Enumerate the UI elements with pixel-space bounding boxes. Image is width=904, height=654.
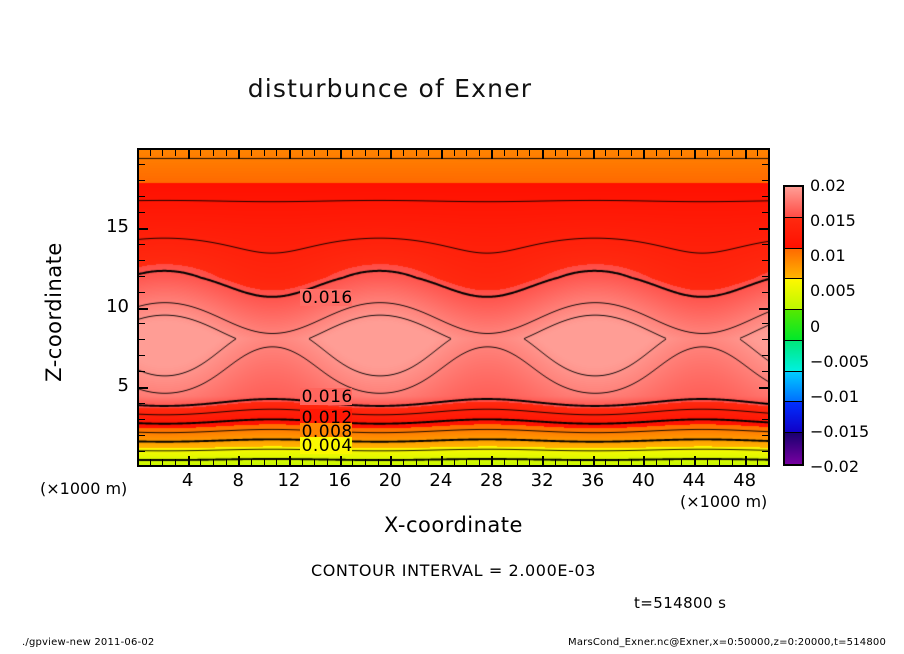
- y-tick-right: [762, 180, 770, 181]
- y-tick-left: [137, 276, 145, 277]
- x-tick-bottom: [416, 459, 417, 467]
- y-tick-right: [762, 403, 770, 404]
- y-tick-left: [137, 339, 145, 340]
- x-tick-bottom: [428, 459, 429, 467]
- y-tick-right: [762, 244, 770, 245]
- x-tick-top: [681, 148, 682, 156]
- x-tick-bottom: [681, 459, 682, 467]
- y-tick-right: [762, 339, 770, 340]
- x-tick-label: 16: [318, 470, 362, 491]
- footer-source-text: MarsCond_Exner.nc@Exner,x=0:50000,z=0:20…: [568, 637, 886, 648]
- y-tick-left: [137, 403, 145, 404]
- y-tick-label: 15: [93, 216, 129, 237]
- y-tick-left: [137, 435, 145, 436]
- colorbar-band: [785, 218, 802, 249]
- x-tick-top: [757, 148, 758, 156]
- x-tick-bottom: [340, 456, 342, 467]
- y-tick-label: 10: [93, 296, 129, 317]
- x-tick-bottom: [529, 459, 530, 467]
- x-tick-top: [466, 148, 467, 156]
- x-tick-top: [390, 148, 392, 159]
- x-tick-top: [618, 148, 619, 156]
- y-tick-right: [762, 435, 770, 436]
- x-axis-unit-label: (×1000 m): [680, 492, 767, 511]
- x-tick-bottom: [226, 459, 227, 467]
- x-tick-bottom: [200, 459, 201, 467]
- contour-interval-note: CONTOUR INTERVAL = 2.000E-03: [137, 561, 770, 580]
- colorbar-band: [785, 187, 802, 218]
- colorbar-tick-label: 0.015: [810, 211, 856, 230]
- colorbar-band: [785, 372, 802, 403]
- contour-label: 0.004: [302, 436, 353, 456]
- x-tick-bottom: [707, 459, 708, 467]
- x-tick-top: [707, 148, 708, 156]
- x-tick-bottom: [365, 459, 366, 467]
- x-tick-bottom: [732, 459, 733, 467]
- x-tick-bottom: [593, 456, 595, 467]
- x-tick-top: [378, 148, 379, 156]
- colorbar-band: [785, 402, 802, 433]
- x-tick-top: [605, 148, 606, 156]
- x-tick-bottom: [745, 456, 747, 467]
- x-tick-bottom: [491, 456, 493, 467]
- x-tick-top: [162, 148, 163, 156]
- y-tick-right: [759, 228, 770, 230]
- colorbar-tick-label: 0.01: [810, 246, 846, 265]
- colorbar-tick-label: −0.02: [810, 457, 859, 476]
- colorbar-band: [785, 310, 802, 341]
- y-tick-right: [759, 387, 770, 389]
- x-tick-top: [200, 148, 201, 156]
- contour-field-canvas: [139, 150, 770, 467]
- x-tick-top: [631, 148, 632, 156]
- x-tick-bottom: [504, 459, 505, 467]
- x-tick-bottom: [479, 459, 480, 467]
- x-tick-top: [504, 148, 505, 156]
- x-tick-top: [593, 148, 595, 159]
- colorbar-band: [785, 433, 802, 464]
- x-tick-bottom: [352, 459, 353, 467]
- x-tick-top: [567, 148, 568, 156]
- x-tick-top: [314, 148, 315, 156]
- x-tick-bottom: [517, 459, 518, 467]
- page-title: disturbunce of Exner: [0, 74, 780, 103]
- x-tick-top: [580, 148, 581, 156]
- x-tick-top: [327, 148, 328, 156]
- x-tick-top: [694, 148, 696, 159]
- x-tick-top: [479, 148, 480, 156]
- x-tick-top: [213, 148, 214, 156]
- colorbar: [783, 185, 804, 466]
- x-tick-bottom: [403, 459, 404, 467]
- x-tick-bottom: [378, 459, 379, 467]
- y-tick-left: [137, 355, 145, 356]
- x-tick-bottom: [466, 459, 467, 467]
- x-tick-bottom: [289, 456, 291, 467]
- x-tick-top: [555, 148, 556, 156]
- x-tick-bottom: [162, 459, 163, 467]
- x-tick-top: [226, 148, 227, 156]
- x-tick-bottom: [542, 456, 544, 467]
- x-axis-label: X-coordinate: [137, 513, 770, 537]
- y-tick-right: [762, 323, 770, 324]
- x-tick-bottom: [276, 459, 277, 467]
- colorbar-tick-label: 0.02: [810, 176, 846, 195]
- x-tick-bottom: [694, 456, 696, 467]
- x-tick-bottom: [390, 456, 392, 467]
- colorbar-tick-label: 0.005: [810, 281, 856, 300]
- x-tick-label: 24: [419, 470, 463, 491]
- y-tick-left: [137, 212, 145, 213]
- x-tick-bottom: [327, 459, 328, 467]
- x-tick-top: [428, 148, 429, 156]
- x-tick-label: 48: [723, 470, 767, 491]
- x-tick-top: [352, 148, 353, 156]
- x-tick-label: 12: [267, 470, 311, 491]
- contour-label: 0.016: [302, 387, 353, 407]
- y-tick-right: [762, 196, 770, 197]
- x-tick-label: 32: [520, 470, 564, 491]
- x-tick-top: [416, 148, 417, 156]
- x-tick-bottom: [669, 459, 670, 467]
- y-tick-left: [137, 371, 145, 372]
- x-tick-top: [656, 148, 657, 156]
- x-tick-bottom: [150, 459, 151, 467]
- y-tick-right: [762, 419, 770, 420]
- x-tick-top: [719, 148, 720, 156]
- x-tick-bottom: [251, 459, 252, 467]
- y-tick-left: [137, 228, 148, 230]
- y-tick-left: [137, 292, 145, 293]
- x-tick-bottom: [213, 459, 214, 467]
- y-tick-left: [137, 244, 145, 245]
- y-tick-left: [137, 323, 145, 324]
- colorbar-tick-label: −0.015: [810, 422, 869, 441]
- y-tick-left: [137, 419, 145, 420]
- x-tick-top: [302, 148, 303, 156]
- x-tick-top: [175, 148, 176, 156]
- x-tick-bottom: [631, 459, 632, 467]
- x-tick-bottom: [656, 459, 657, 467]
- x-tick-top: [517, 148, 518, 156]
- x-tick-bottom: [757, 459, 758, 467]
- x-tick-label: 8: [216, 470, 260, 491]
- contour-plot-area: [137, 148, 770, 467]
- x-tick-top: [150, 148, 151, 156]
- x-tick-label: 28: [469, 470, 513, 491]
- time-stamp-note: t=514800 s: [634, 594, 726, 612]
- x-tick-top: [669, 148, 670, 156]
- x-tick-top: [340, 148, 342, 159]
- x-tick-bottom: [454, 459, 455, 467]
- y-tick-left: [137, 196, 145, 197]
- y-tick-left: [137, 180, 145, 181]
- y-tick-left: [137, 451, 145, 452]
- x-tick-bottom: [555, 459, 556, 467]
- y-tick-right: [762, 212, 770, 213]
- x-tick-top: [276, 148, 277, 156]
- x-tick-top: [289, 148, 291, 159]
- z-axis-unit-label: (×1000 m): [40, 479, 127, 498]
- colorbar-tick-label: −0.01: [810, 387, 859, 406]
- x-tick-top: [441, 148, 443, 159]
- x-tick-top: [745, 148, 747, 159]
- y-axis-label: Z-coordinate: [42, 212, 66, 412]
- y-tick-right: [762, 292, 770, 293]
- x-tick-top: [251, 148, 252, 156]
- y-tick-left: [137, 260, 145, 261]
- x-tick-bottom: [238, 456, 240, 467]
- x-tick-bottom: [188, 456, 190, 467]
- y-tick-right: [762, 371, 770, 372]
- x-tick-bottom: [264, 459, 265, 467]
- x-tick-label: 4: [166, 470, 210, 491]
- x-tick-bottom: [441, 456, 443, 467]
- x-tick-top: [643, 148, 645, 159]
- y-tick-right: [759, 308, 770, 310]
- y-tick-right: [762, 164, 770, 165]
- x-tick-top: [491, 148, 493, 159]
- x-tick-top: [732, 148, 733, 156]
- x-tick-top: [238, 148, 240, 159]
- x-tick-bottom: [580, 459, 581, 467]
- colorbar-band: [785, 279, 802, 310]
- x-tick-top: [542, 148, 544, 159]
- y-tick-right: [762, 276, 770, 277]
- x-tick-label: 40: [621, 470, 665, 491]
- x-tick-top: [264, 148, 265, 156]
- colorbar-tick-label: −0.005: [810, 352, 869, 371]
- colorbar-tick-label: 0: [810, 317, 820, 336]
- x-tick-bottom: [618, 459, 619, 467]
- x-tick-bottom: [567, 459, 568, 467]
- y-tick-label: 5: [93, 375, 129, 396]
- x-tick-label: 36: [571, 470, 615, 491]
- x-tick-bottom: [175, 459, 176, 467]
- x-tick-bottom: [719, 459, 720, 467]
- x-tick-bottom: [314, 459, 315, 467]
- x-tick-top: [188, 148, 190, 159]
- y-tick-left: [137, 387, 148, 389]
- x-tick-bottom: [643, 456, 645, 467]
- x-tick-top: [403, 148, 404, 156]
- y-tick-right: [762, 451, 770, 452]
- x-tick-bottom: [302, 459, 303, 467]
- y-tick-right: [762, 355, 770, 356]
- y-tick-right: [762, 260, 770, 261]
- y-tick-left: [137, 308, 148, 310]
- y-tick-left: [137, 164, 145, 165]
- x-tick-top: [529, 148, 530, 156]
- x-tick-bottom: [605, 459, 606, 467]
- x-tick-top: [365, 148, 366, 156]
- colorbar-band: [785, 249, 802, 280]
- x-tick-label: 44: [672, 470, 716, 491]
- colorbar-band: [785, 341, 802, 372]
- x-tick-top: [454, 148, 455, 156]
- footer-command-text: ./gpview-new 2011-06-02: [22, 637, 154, 648]
- x-tick-label: 20: [368, 470, 412, 491]
- contour-label: 0.016: [302, 288, 353, 308]
